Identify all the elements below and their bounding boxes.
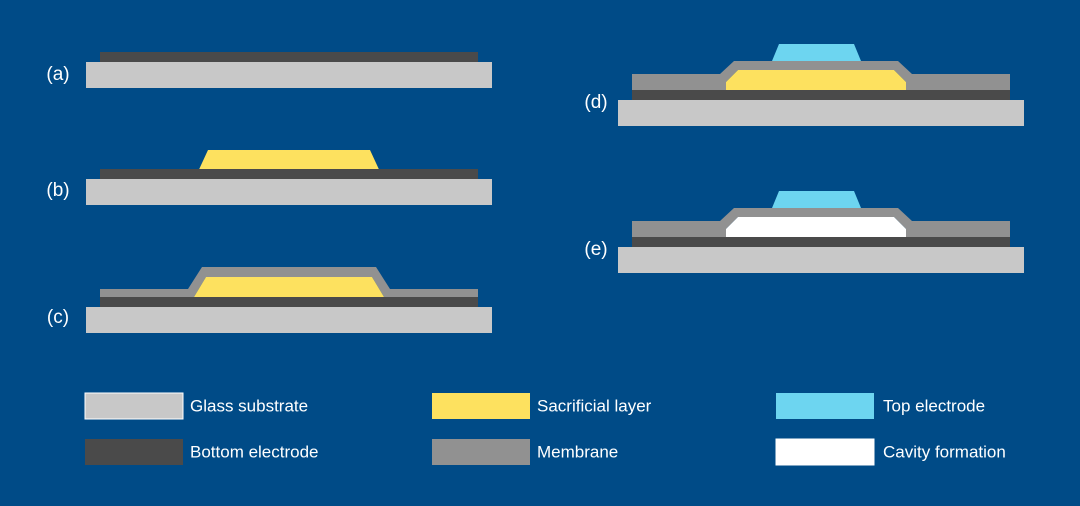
panel-e-top-electrode [772, 191, 861, 208]
legend-label-sacrificial-layer: Sacrificial layer [537, 396, 652, 415]
legend-item-membrane: Membrane [432, 439, 618, 465]
panel-d-membrane-left-shelf [632, 82, 726, 90]
legend-label-cavity-formation: Cavity formation [883, 442, 1006, 461]
panel-e-cavity-upper [726, 217, 906, 229]
panel-a-label: (a) [46, 64, 69, 85]
panel-a: (a) [46, 52, 492, 88]
legend-label-bottom-electrode: Bottom electrode [190, 442, 319, 461]
legend-swatch-top-electrode [776, 393, 874, 419]
panel-d-sacrificial-layer-lower [726, 82, 906, 90]
panel-d-membrane-right-shelf [906, 82, 1010, 90]
panel-b-bottom-electrode [100, 169, 478, 179]
legend-item-bottom-electrode: Bottom electrode [85, 439, 319, 465]
panel-b-label: (b) [46, 180, 69, 201]
legend-item-cavity-formation: Cavity formation [776, 439, 1006, 465]
panel-e-label: (e) [584, 239, 607, 260]
panel-e-glass-substrate [618, 247, 1024, 273]
process-flow-figure: (a) (b) (c) (d) [0, 0, 1080, 506]
panel-a-bottom-electrode [100, 52, 478, 62]
panel-e-cavity-lower [726, 229, 906, 237]
legend-swatch-membrane [432, 439, 530, 465]
cross-section-diagram-canvas: (a) (b) (c) (d) [0, 0, 1080, 506]
legend-swatch-cavity-formation [776, 439, 874, 465]
panel-d-glass-substrate [618, 100, 1024, 126]
panel-c-glass-substrate [86, 307, 492, 333]
panel-d-bottom-electrode [632, 90, 1010, 100]
legend-swatch-sacrificial-layer [432, 393, 530, 419]
panel-d-sacrificial-layer-upper [726, 70, 906, 82]
legend-swatch-glass-substrate [85, 393, 183, 419]
legend-swatch-bottom-electrode [85, 439, 183, 465]
legend-label-glass-substrate: Glass substrate [190, 396, 308, 415]
legend-item-sacrificial-layer: Sacrificial layer [432, 393, 652, 419]
legend-label-top-electrode: Top electrode [883, 396, 985, 415]
panel-d-top-electrode [772, 44, 861, 61]
panel-c-bottom-electrode [100, 297, 478, 307]
legend-item-glass-substrate: Glass substrate [85, 393, 308, 419]
panel-b-glass-substrate [86, 179, 492, 205]
panel-c-sacrificial-layer [194, 277, 384, 297]
panel-d-label: (d) [584, 92, 607, 113]
panel-c-label: (c) [47, 307, 69, 328]
panel-e-bottom-electrode [632, 237, 1010, 247]
panel-e-membrane-right-shelf [906, 229, 1010, 237]
legend-label-membrane: Membrane [537, 442, 618, 461]
panel-e-membrane-left-shelf [632, 229, 726, 237]
panel-a-glass-substrate [86, 62, 492, 88]
